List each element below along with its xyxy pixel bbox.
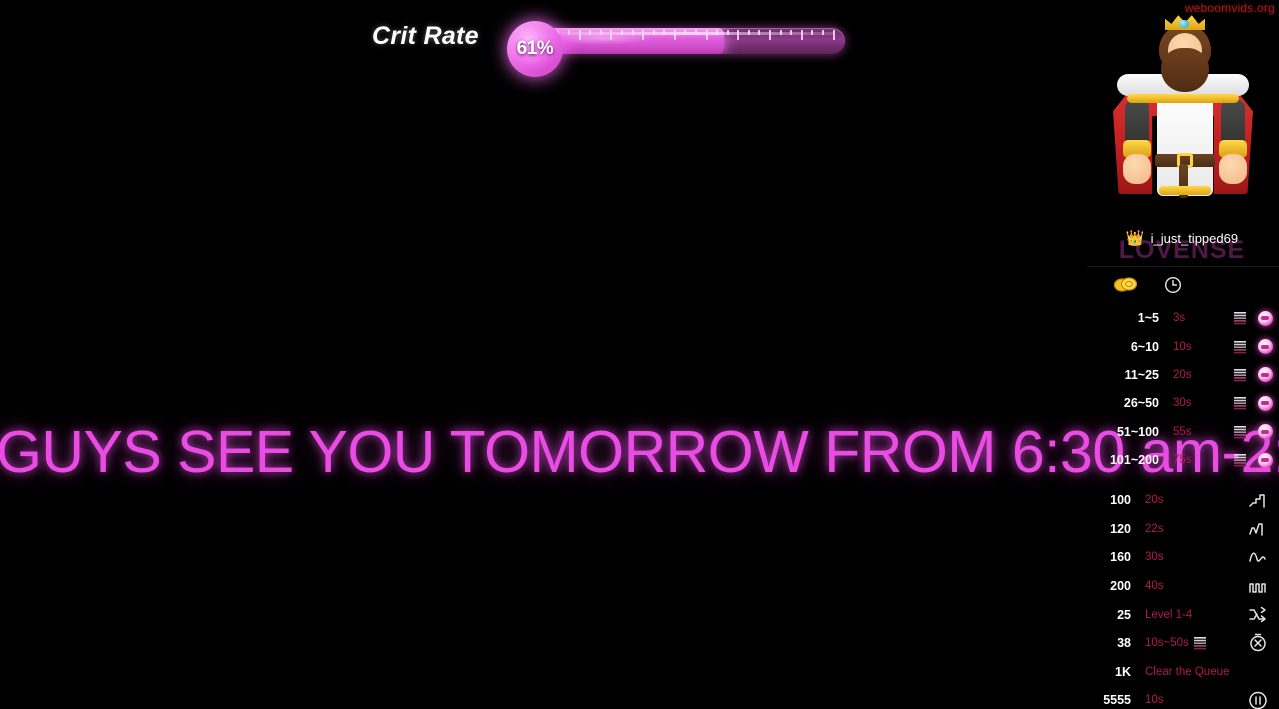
wave-smooth-icon[interactable] <box>1237 547 1279 567</box>
tip-amount: 101~200 <box>1085 453 1165 467</box>
tip-duration: 75s <box>1165 454 1229 466</box>
tip-row[interactable]: 6~1010s <box>1085 332 1279 360</box>
pattern-row[interactable]: 16030s <box>1085 543 1279 572</box>
pattern-amount: 1K <box>1085 665 1131 679</box>
tip-amount: 51~100 <box>1085 425 1165 439</box>
pattern-amount: 160 <box>1085 550 1131 564</box>
crit-rate-gloss <box>547 32 835 35</box>
signal-bars-icon <box>1229 453 1251 467</box>
pattern-amount: 100 <box>1085 493 1131 507</box>
vibrate-dot-icon[interactable] <box>1251 453 1279 468</box>
pattern-row[interactable]: 3810s~50s <box>1085 629 1279 658</box>
coins-icon <box>1113 274 1139 299</box>
tip-amount: 6~10 <box>1085 340 1165 354</box>
pattern-duration: Clear the Queue <box>1131 666 1237 678</box>
random-timer-icon[interactable] <box>1237 633 1279 653</box>
tip-row[interactable]: 11~2520s <box>1085 361 1279 389</box>
pattern-duration: 10s~50s <box>1131 636 1237 650</box>
tip-amount: 26~50 <box>1085 396 1165 410</box>
tip-amount: 11~25 <box>1085 368 1165 382</box>
tip-duration: 20s <box>1165 369 1229 381</box>
crown-icon: 👑 <box>1126 231 1145 246</box>
crit-rate-knob: 61% <box>507 21 563 77</box>
king-avatar-icon <box>1097 14 1269 222</box>
pattern-duration: 40s <box>1131 580 1237 592</box>
pattern-amount: 200 <box>1085 579 1131 593</box>
signal-bars-icon <box>1229 396 1251 410</box>
pause-icon[interactable] <box>1237 690 1279 709</box>
vibrate-dot-icon[interactable] <box>1251 396 1279 411</box>
pattern-duration: 22s <box>1131 523 1237 535</box>
shuffle-icon[interactable] <box>1237 605 1279 625</box>
tip-menu-header <box>1085 274 1279 298</box>
pattern-row[interactable]: 10020s <box>1085 486 1279 515</box>
tip-duration: 55s <box>1165 426 1229 438</box>
signal-bars-icon <box>1229 425 1251 439</box>
pattern-duration: 20s <box>1131 494 1237 506</box>
tip-row[interactable]: 51~10055s <box>1085 418 1279 446</box>
signal-bars-icon <box>1229 368 1251 382</box>
pattern-amount: 120 <box>1085 522 1131 536</box>
tipper-username-row: 👑 i_just_tipped69 <box>1085 231 1279 246</box>
wave-stairs-icon[interactable] <box>1237 490 1279 510</box>
crit-rate-percent: 61% <box>517 38 554 60</box>
tip-duration: 3s <box>1165 312 1229 324</box>
pattern-duration: Level 1-4 <box>1131 609 1237 621</box>
pattern-row[interactable]: 25Level 1-4 <box>1085 600 1279 629</box>
tip-row[interactable]: 1~53s <box>1085 304 1279 332</box>
clock-icon <box>1163 274 1183 299</box>
panel-divider <box>1087 266 1279 267</box>
tip-duration: 30s <box>1165 397 1229 409</box>
tip-row[interactable]: 26~5030s <box>1085 389 1279 417</box>
wave-pulse-icon[interactable] <box>1237 519 1279 539</box>
pattern-amount: 38 <box>1085 636 1131 650</box>
signal-bars-icon <box>1194 636 1206 650</box>
tip-duration: 10s <box>1165 341 1229 353</box>
pattern-duration: 10s <box>1131 694 1237 706</box>
pattern-row[interactable]: 555510s <box>1085 686 1279 709</box>
tip-menu-panel: weboomvids.org LOVENSE 👑 i_just_ <box>1085 0 1279 709</box>
vibrate-dot-icon[interactable] <box>1251 424 1279 439</box>
crit-rate-label: Crit Rate <box>372 22 479 51</box>
tip-amount: 1~5 <box>1085 311 1165 325</box>
pattern-row[interactable]: 20040s <box>1085 572 1279 601</box>
signal-bars-icon <box>1229 311 1251 325</box>
tip-row[interactable]: 101~20075s <box>1085 446 1279 474</box>
vibrate-dot-icon[interactable] <box>1251 311 1279 326</box>
signal-bars-icon <box>1229 340 1251 354</box>
pattern-amount: 25 <box>1085 608 1131 622</box>
tipper-username: i_just_tipped69 <box>1151 231 1238 246</box>
site-watermark: weboomvids.org <box>1185 1 1275 15</box>
pattern-duration: 30s <box>1131 551 1237 563</box>
vibrate-dot-icon[interactable] <box>1251 367 1279 382</box>
pattern-amount: 5555 <box>1085 693 1131 707</box>
wave-square-icon[interactable] <box>1237 576 1279 596</box>
stream-overlay-screen: Crit Rate 61% GUYS SEE YOU TOMORROW FROM… <box>0 0 1279 709</box>
pattern-row[interactable]: 12022s <box>1085 515 1279 544</box>
vibrate-dot-icon[interactable] <box>1251 339 1279 354</box>
crit-rate-progress-bar: 61% <box>507 21 845 51</box>
crit-rate-meter: Crit Rate 61% <box>372 8 845 64</box>
pattern-row[interactable]: 1KClear the Queue <box>1085 658 1279 687</box>
